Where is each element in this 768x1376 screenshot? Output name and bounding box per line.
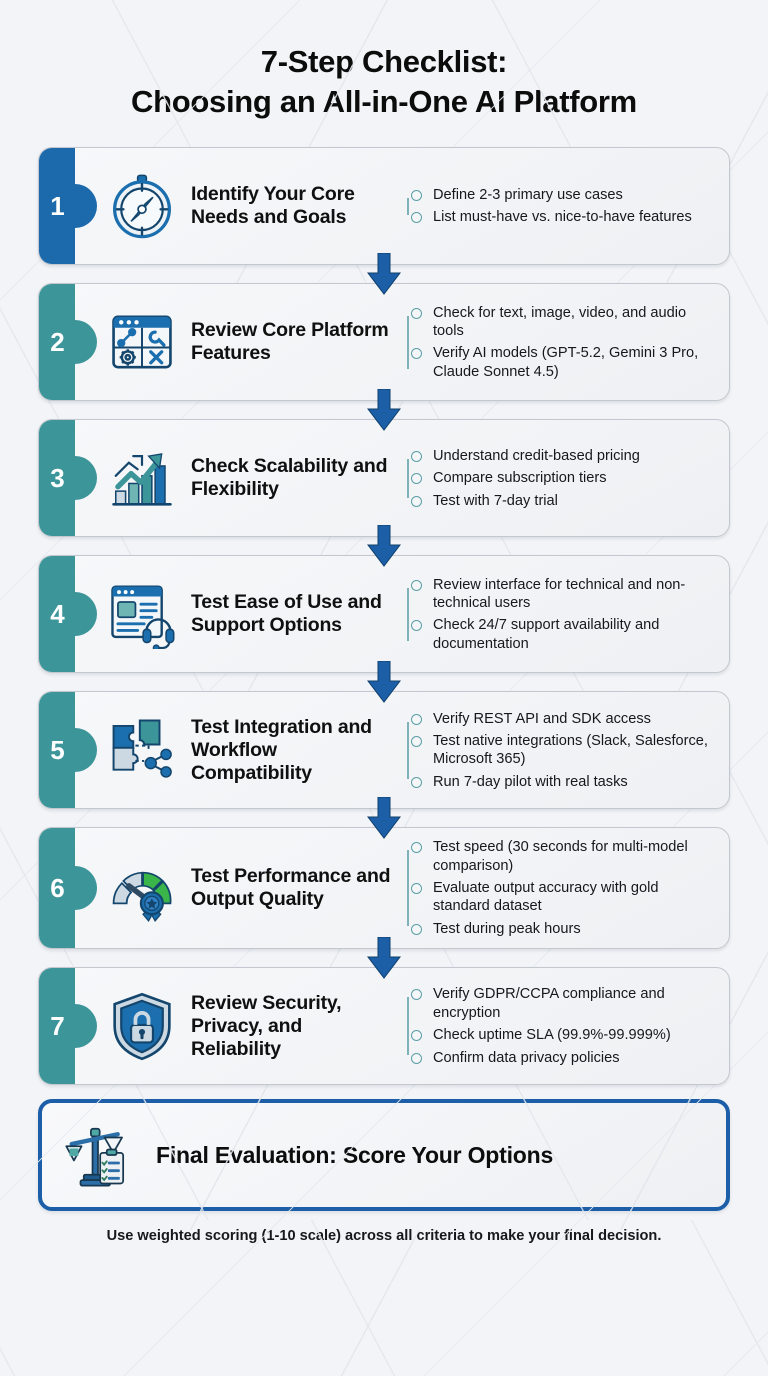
bullet-list: Test speed (30 seconds for multi-model c… [411, 838, 715, 938]
step-6-bullet-3: Test during peak hours [411, 920, 715, 938]
step-5-bullet-1: Verify REST API and SDK access [411, 710, 715, 728]
step-6: 6 Test Performance and Output Quality Te… [0, 827, 768, 949]
step-bullets-3: Understand credit-based pricingCompare s… [403, 447, 715, 510]
bullet-list: Understand credit-based pricingCompare s… [411, 447, 715, 510]
step-number-bar-6: 6 [39, 828, 75, 948]
step-content-2: Review Core Platform Features Check for … [75, 284, 729, 400]
puzzle-integration-icon [105, 713, 179, 787]
flow-arrow-down-icon [0, 395, 768, 425]
step-title-1: Identify Your Core Needs and Goals [191, 183, 391, 229]
step-3: 3 Check Scalability and Flexibility Unde… [0, 419, 768, 537]
flow-arrow-down-icon [0, 803, 768, 833]
step-bullets-4: Review interface for technical and non-t… [403, 576, 715, 654]
step-card-7[interactable]: 7 Review Security, Privacy, and Reliabil… [38, 967, 730, 1085]
page-title-line-1: 7-Step Checklist: [40, 42, 728, 82]
step-7-bullet-3: Confirm data privacy policies [411, 1049, 715, 1067]
step-title-7: Review Security, Privacy, and Reliabilit… [191, 992, 391, 1061]
infographic-page: 7-Step Checklist: Choosing an All-in-One… [0, 0, 768, 1376]
page-title: 7-Step Checklist: Choosing an All-in-One… [40, 42, 728, 121]
step-3-bullet-1: Understand credit-based pricing [411, 447, 715, 465]
bullet-spine [407, 850, 409, 926]
bullet-spine [407, 722, 409, 780]
steps-list: 1 Identify Your Core Needs and Goals Def… [0, 147, 768, 1085]
page-title-line-2: Choosing an All-in-One AI Platform [40, 82, 728, 122]
step-6-bullet-1: Test speed (30 seconds for multi-model c… [411, 838, 715, 875]
step-title-6: Test Performance and Output Quality [191, 865, 391, 911]
step-content-3: Check Scalability and Flexibility Unders… [75, 420, 729, 536]
flow-arrow-down-icon [0, 943, 768, 973]
step-number-bar-1: 1 [39, 148, 75, 264]
step-bullets-7: Verify GDPR/CCPA compliance and encrypti… [403, 985, 715, 1067]
scales-checklist-icon [60, 1117, 136, 1193]
step-5-bullet-3: Run 7-day pilot with real tasks [411, 773, 715, 791]
shield-lock-icon [105, 989, 179, 1063]
step-content-6: Test Performance and Output Quality Test… [75, 828, 729, 948]
step-1-bullet-2: List must-have vs. nice-to-have features [411, 208, 715, 226]
bullet-spine [407, 198, 409, 215]
step-number-bar-5: 5 [39, 692, 75, 808]
step-title-2: Review Core Platform Features [191, 319, 391, 365]
step-2-bullet-2: Verify AI models (GPT-5.2, Gemini 3 Pro,… [411, 344, 715, 381]
step-card-4[interactable]: 4 Test Ease of Use and Support Options [38, 555, 730, 673]
step-content-5: Test Integration and Workflow Compatibil… [75, 692, 729, 808]
bullet-spine [407, 316, 409, 370]
step-content-7: Review Security, Privacy, and Reliabilit… [75, 968, 729, 1084]
footer-note: Use weighted scoring (1-10 scale) across… [0, 1211, 768, 1244]
step-content-4: Test Ease of Use and Support Options Rev… [75, 556, 729, 672]
step-number-6: 6 [50, 873, 64, 904]
bullet-list: Check for text, image, video, and audio … [411, 304, 715, 382]
step-4-bullet-2: Check 24/7 support availability and docu… [411, 616, 715, 653]
step-number-bar-3: 3 [39, 420, 75, 536]
step-2: 2 Review Core Platform Features [0, 283, 768, 401]
final-evaluation-banner[interactable]: Final Evaluation: Score Your Options [38, 1099, 730, 1211]
step-title-3: Check Scalability and Flexibility [191, 455, 391, 501]
platform-tools-icon [105, 305, 179, 379]
step-card-1[interactable]: 1 Identify Your Core Needs and Goals Def… [38, 147, 730, 265]
step-1: 1 Identify Your Core Needs and Goals Def… [0, 147, 768, 265]
step-4: 4 Test Ease of Use and Support Options [0, 555, 768, 673]
step-number-2: 2 [50, 327, 64, 358]
step-card-2[interactable]: 2 Review Core Platform Features [38, 283, 730, 401]
step-6-bullet-2: Evaluate output accuracy with gold stand… [411, 879, 715, 916]
bullet-list: Review interface for technical and non-t… [411, 576, 715, 654]
final-evaluation-section: Final Evaluation: Score Your Options [0, 1085, 768, 1211]
step-7-bullet-2: Check uptime SLA (99.9%-99.999%) [411, 1026, 715, 1044]
bullet-list: Define 2-3 primary use casesList must-ha… [411, 186, 715, 227]
step-4-bullet-1: Review interface for technical and non-t… [411, 576, 715, 613]
bullet-list: Verify GDPR/CCPA compliance and encrypti… [411, 985, 715, 1067]
header: 7-Step Checklist: Choosing an All-in-One… [0, 0, 768, 121]
step-number-7: 7 [50, 1011, 64, 1042]
flow-arrow-down-icon [0, 531, 768, 561]
interface-support-icon [105, 577, 179, 651]
step-bullets-6: Test speed (30 seconds for multi-model c… [403, 838, 715, 938]
bullet-spine [407, 997, 409, 1055]
step-number-1: 1 [50, 191, 64, 222]
step-number-5: 5 [50, 735, 64, 766]
step-3-bullet-2: Compare subscription tiers [411, 469, 715, 487]
step-1-bullet-1: Define 2-3 primary use cases [411, 186, 715, 204]
bullet-spine [407, 588, 409, 642]
step-number-4: 4 [50, 599, 64, 630]
step-title-5: Test Integration and Workflow Compatibil… [191, 716, 391, 785]
gauge-award-icon [105, 851, 179, 925]
step-content-1: Identify Your Core Needs and Goals Defin… [75, 148, 729, 264]
flow-arrow-down-icon [0, 259, 768, 289]
step-7: 7 Review Security, Privacy, and Reliabil… [0, 967, 768, 1085]
step-card-3[interactable]: 3 Check Scalability and Flexibility Unde… [38, 419, 730, 537]
step-number-3: 3 [50, 463, 64, 494]
step-bullets-1: Define 2-3 primary use casesList must-ha… [403, 186, 715, 227]
growth-chart-icon [105, 441, 179, 515]
step-card-5[interactable]: 5 Test Integration and Workflow Compatib… [38, 691, 730, 809]
step-5-bullet-2: Test native integrations (Slack, Salesfo… [411, 732, 715, 769]
step-bullets-2: Check for text, image, video, and audio … [403, 304, 715, 382]
compass-icon [105, 169, 179, 243]
final-evaluation-label: Final Evaluation: Score Your Options [150, 1142, 553, 1169]
step-title-4: Test Ease of Use and Support Options [191, 591, 391, 637]
step-2-bullet-1: Check for text, image, video, and audio … [411, 304, 715, 341]
step-7-bullet-1: Verify GDPR/CCPA compliance and encrypti… [411, 985, 715, 1022]
step-number-bar-2: 2 [39, 284, 75, 400]
bullet-list: Verify REST API and SDK accessTest nativ… [411, 710, 715, 792]
step-5: 5 Test Integration and Workflow Compatib… [0, 691, 768, 809]
bullet-spine [407, 459, 409, 498]
step-number-bar-4: 4 [39, 556, 75, 672]
step-card-6[interactable]: 6 Test Performance and Output Quality Te… [38, 827, 730, 949]
step-bullets-5: Verify REST API and SDK accessTest nativ… [403, 710, 715, 792]
flow-arrow-down-icon [0, 667, 768, 697]
step-3-bullet-3: Test with 7-day trial [411, 492, 715, 510]
step-number-bar-7: 7 [39, 968, 75, 1084]
